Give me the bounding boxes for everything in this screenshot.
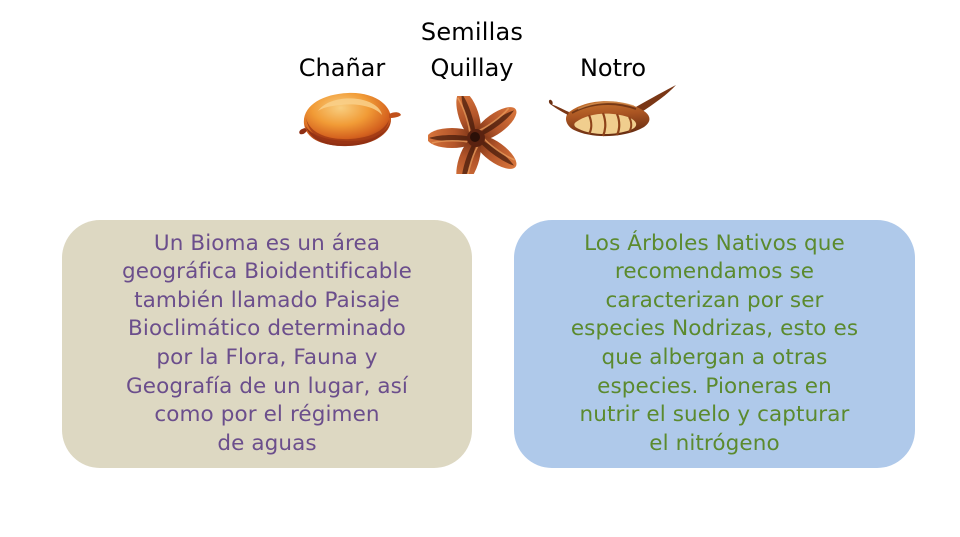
panel-bioma-text: Un Bioma es un área geográfica Bioidenti… [76,230,458,459]
seed-quillay-icon [428,96,524,174]
panel-arboles-nativos-text: Los Árboles Nativos que recomendamos se … [528,230,901,459]
seed-chanar-icon [296,84,404,154]
panel-arboles-nativos: Los Árboles Nativos que recomendamos se … [514,220,915,468]
seed-label-quillay: Quillay [392,54,552,82]
seeds-section-title: Semillas [0,18,960,46]
panel-bioma: Un Bioma es un área geográfica Bioidenti… [62,220,472,468]
slide-canvas: Semillas Chañar Quillay Notro [0,0,960,537]
seeds-section-title-text: Semillas [421,18,523,46]
seed-label-notro: Notro [533,54,693,82]
seed-notro-icon [548,82,678,148]
